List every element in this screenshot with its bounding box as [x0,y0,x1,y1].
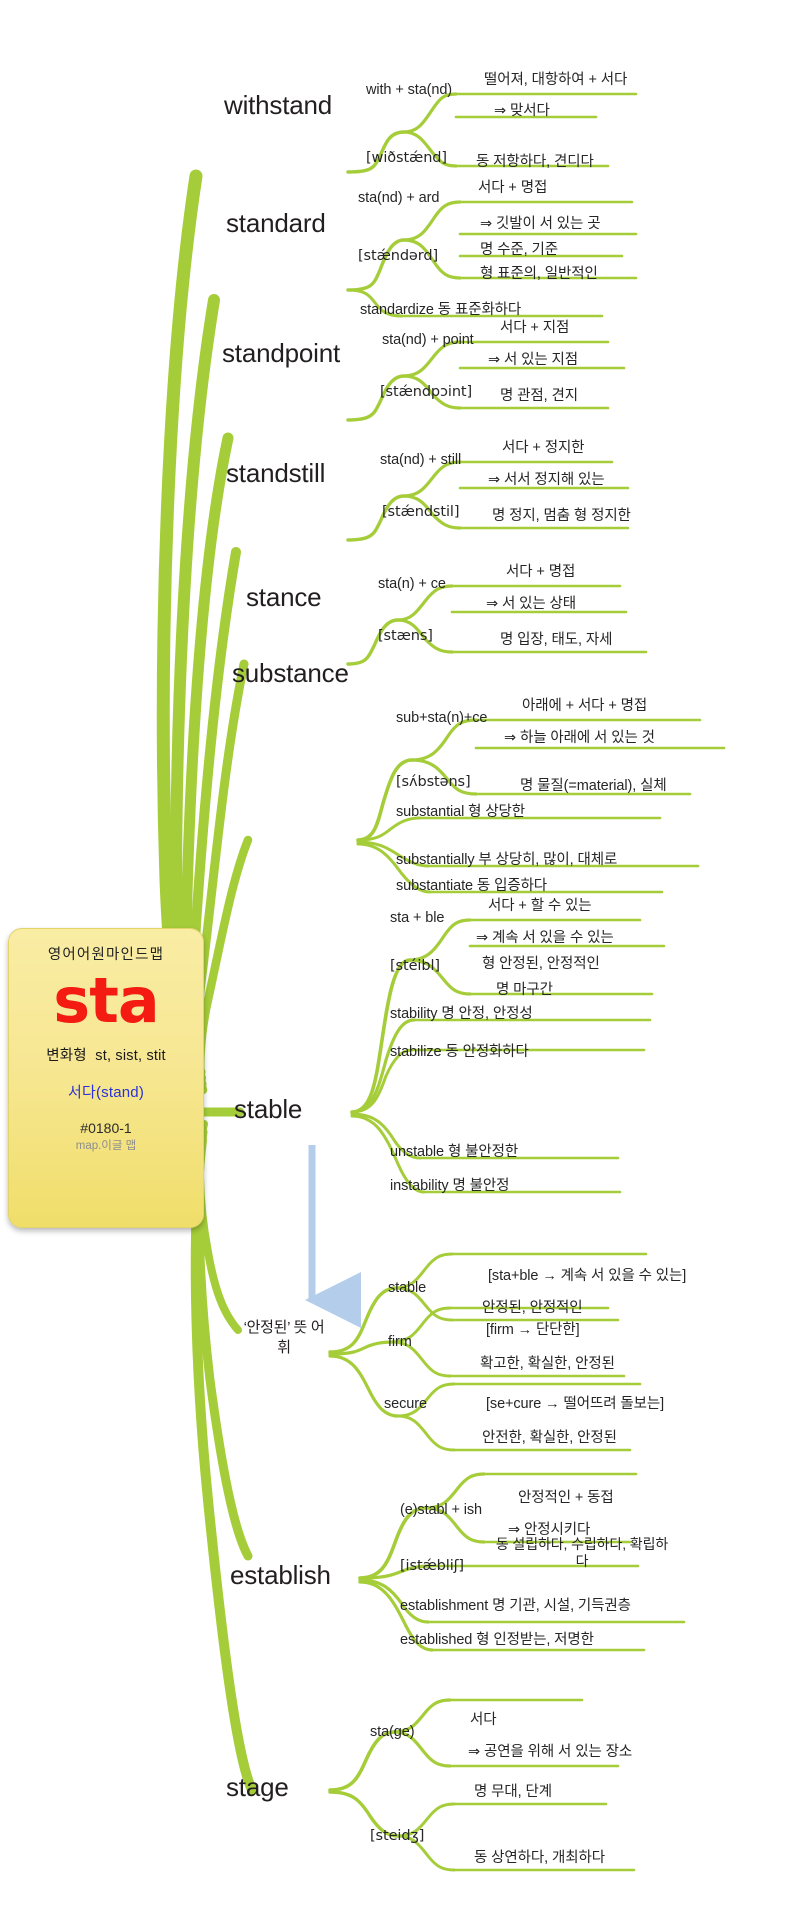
branch-label-standard[interactable]: standard [226,208,326,239]
standard-derivative-1: standardize 동 표준화하다 [360,298,521,319]
synonym-stable-origin: [sta+ble → 계속 서 있을 수 있는] [488,1264,686,1285]
substance-derivative-2: substantially 부 상당히, 많이, 대체로 [396,848,617,869]
root-word: sta [9,968,203,1034]
standard-gloss-1: 서다 + 명접 [478,176,547,197]
establish-definition: 동 설립하다, 수립하다, 확립하다 [492,1536,672,1570]
synonym-word-stable: stable [388,1280,426,1296]
standard-definition-noun: 명 수준, 기준 [480,238,558,259]
standpoint-gloss-1: 서다 + 지점 [500,316,569,337]
standard-gloss-2: ⇒ 깃발이 서 있는 곳 [480,212,600,233]
root-variants-label: 변화형 [46,1048,87,1064]
stable-gloss-2: ⇒ 계속 서 있을 수 있는 [476,926,614,947]
branch-label-stance[interactable]: stance [246,582,321,613]
withstand-gloss-2: ⇒ 맞서다 [494,99,550,120]
stable-derivative-3: unstable 형 불안정한 [390,1140,518,1161]
synonym-secure-meaning: 안전한, 확실한, 안정된 [482,1426,617,1447]
substance-definition: 명 물질(=material), 실체 [520,774,667,795]
standpoint-ipa: [stǽndpɔint] [380,384,472,400]
standpoint-formula: sta(nd) + point [382,332,474,348]
standard-formula: sta(nd) + ard [358,190,439,206]
establish-formula: (e)stabl + ish [400,1502,482,1518]
withstand-gloss-1: 떨어져, 대항하여 + 서다 [484,68,627,89]
branch-label-establish[interactable]: establish [230,1560,331,1591]
standpoint-definition: 명 관점, 견지 [500,384,578,405]
standard-ipa: [stǽndərd] [358,248,438,264]
branch-label-withstand[interactable]: withstand [224,90,332,121]
branch-label-substance[interactable]: substance [232,658,349,689]
stable-gloss-1: 서다 + 할 수 있는 [488,894,592,915]
establish-derivative-1: establishment 명 기관, 시설, 기득권층 [400,1594,631,1615]
synonym-word-firm: firm [388,1334,412,1350]
root-variants: 변화형 st, sist, stit [9,1044,203,1065]
substance-derivative-1: substantial 형 상당한 [396,800,525,821]
stable-derivative-4: instability 명 불안정 [390,1174,509,1195]
stage-definition-verb: 동 상연하다, 개최하다 [474,1846,605,1867]
establish-gloss-1: 안정적인 + 동접 [518,1486,614,1507]
stage-ipa: [steidʒ] [370,1828,424,1844]
mindmap-canvas: 영어어원마인드맵 sta 변화형 st, sist, stit 서다(stand… [0,0,800,1931]
synonym-firm-meaning: 확고한, 확실한, 안정된 [480,1352,615,1373]
stance-definition: 명 입장, 태도, 자세 [500,628,612,649]
establish-ipa: [istǽbliʃ] [400,1558,464,1574]
standstill-definition: 명 정지, 멈춤 형 정지한 [492,504,631,525]
withstand-formula: with + sta(nd) [366,82,452,98]
stable-definition-noun: 명 마구간 [496,978,553,999]
stance-formula: sta(n) + ce [378,576,446,592]
stable-formula: sta + ble [390,910,444,926]
branch-label-standstill[interactable]: standstill [226,458,325,489]
standpoint-gloss-2: ⇒ 서 있는 지점 [488,348,578,369]
stance-gloss-1: 서다 + 명접 [506,560,575,581]
stable-ipa: [stéibl] [390,958,440,974]
synonym-stable-meaning: 안정된, 안정적인 [482,1296,583,1317]
stage-gloss-2: ⇒ 공연을 위해 서 있는 장소 [468,1740,632,1761]
branch-label-stage[interactable]: stage [226,1772,289,1803]
stance-ipa: [stæns] [378,628,433,644]
substance-ipa: [sʌ́bstəns] [396,774,471,790]
stage-definition-noun: 명 무대, 단계 [474,1780,552,1801]
root-meaning: 서다(stand) [9,1081,203,1102]
root-source: map.이글 맵 [9,1137,203,1153]
synonym-secure-origin: [se+cure → 떨어뜨려 돌보는] [486,1392,664,1413]
withstand-definition: 동 저항하다, 견디다 [476,150,594,171]
substance-formula: sub+sta(n)+ce [396,710,487,726]
stable-derivative-1: stability 명 안정, 안정성 [390,1002,533,1023]
root-node-card[interactable]: 영어어원마인드맵 sta 변화형 st, sist, stit 서다(stand… [8,928,204,1228]
branch-label-stable[interactable]: stable [234,1094,302,1125]
substance-gloss-2: ⇒ 하늘 아래에 서 있는 것 [504,726,655,747]
withstand-ipa: [wiðstǽnd] [366,150,447,166]
root-id: #0180-1 [9,1120,203,1136]
synonym-word-secure: secure [384,1396,427,1412]
stance-gloss-2: ⇒ 서 있는 상태 [486,592,576,613]
standstill-gloss-1: 서다 + 정지한 [502,436,584,457]
branch-label-synonyms[interactable]: ‘안정된’ 뜻 어휘 [238,1318,330,1358]
substance-derivative-3: substantiate 동 입증하다 [396,874,547,895]
establish-derivative-2: established 형 인정받는, 저명한 [400,1628,594,1649]
stage-gloss-1: 서다 [470,1708,496,1729]
root-title: 영어어원마인드맵 [9,943,203,964]
stage-formula: sta(ge) [370,1724,414,1740]
standstill-gloss-2: ⇒ 서서 정지해 있는 [488,468,605,489]
root-variants-value: st, sist, stit [95,1048,165,1064]
synonym-firm-origin: [firm → 단단한] [486,1318,580,1339]
branch-label-standpoint[interactable]: standpoint [222,338,340,369]
stable-derivative-2: stabilize 동 안정화하다 [390,1040,529,1061]
standstill-ipa: [stǽndstil] [382,504,459,520]
stable-definition-adj: 형 안정된, 안정적인 [482,952,600,973]
standard-definition-adj: 형 표준의, 일반적인 [480,262,598,283]
substance-gloss-1: 아래에 + 서다 + 명접 [522,694,647,715]
standstill-formula: sta(nd) + still [380,452,461,468]
